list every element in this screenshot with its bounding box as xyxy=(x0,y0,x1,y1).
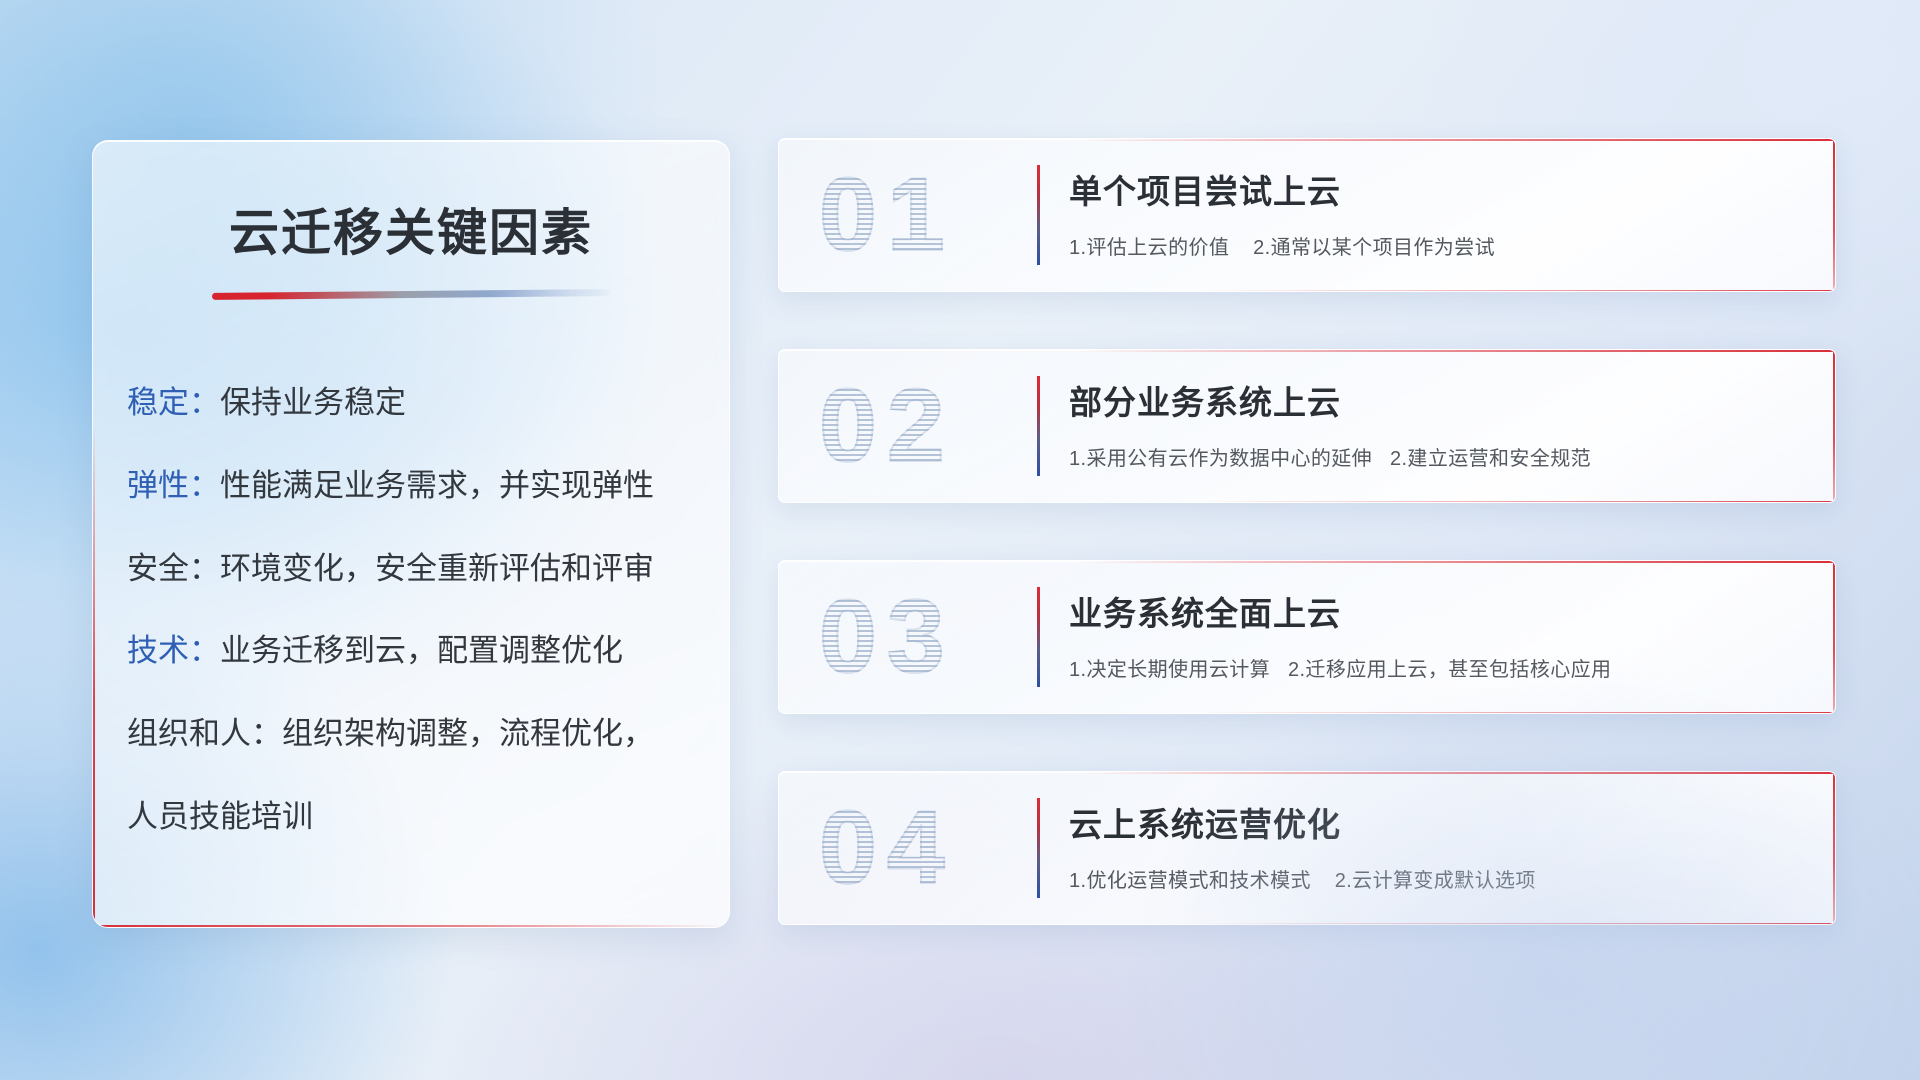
card-body: 云上系统运营优化 1.优化运营模式和技术模式 2.云计算变成默认选项 xyxy=(1069,798,1809,893)
list-item-continuation: 人员技能培训 xyxy=(127,798,695,836)
key-factors-panel: 云迁移关键因素 稳定：保持业务稳定 弹性：性能满足业务需求，并实现弹性 安全：环… xyxy=(92,140,730,928)
card-subtitle: 1.采用公有云作为数据中心的延伸 2.建立运营和安全规范 xyxy=(1069,442,1809,471)
stage-number: 03 xyxy=(819,575,1029,699)
card-top-accent xyxy=(1075,139,1835,141)
factor-value: 业务迁移到云，配置调整优化 xyxy=(220,633,623,668)
factor-value: 性能满足业务需求，并实现弹性 xyxy=(220,468,654,503)
card-title: 部分业务系统上云 xyxy=(1069,376,1809,424)
card-divider-bar xyxy=(1037,165,1040,265)
card-bottom-accent xyxy=(1201,501,1835,502)
card-bottom-accent xyxy=(1201,712,1835,713)
panel-red-bottom-edge xyxy=(93,925,729,927)
card-right-accent xyxy=(1833,772,1835,924)
card-right-accent xyxy=(1833,350,1835,502)
factor-value: 组织架构调整，流程优化， xyxy=(282,716,654,751)
stage-card[interactable]: 03 业务系统全面上云 1.决定长期使用云计算 2.迁移应用上云，甚至包括核心应… xyxy=(778,560,1836,714)
page-title: 云迁移关键因素 xyxy=(93,193,729,265)
card-divider-bar xyxy=(1037,587,1040,687)
card-top-accent xyxy=(1075,772,1835,774)
factor-list: 稳定：保持业务稳定 弹性：性能满足业务需求，并实现弹性 安全：环境变化，安全重新… xyxy=(93,384,729,836)
card-title: 单个项目尝试上云 xyxy=(1069,165,1809,213)
stage-number: 04 xyxy=(819,786,1029,910)
card-subtitle: 1.优化运营模式和技术模式 2.云计算变成默认选项 xyxy=(1069,864,1809,893)
stage-number: 02 xyxy=(819,364,1029,488)
list-item: 稳定：保持业务稳定 xyxy=(127,384,695,422)
list-item: 安全：环境变化，安全重新评估和评审 xyxy=(127,550,695,588)
stage-card[interactable]: 01 单个项目尝试上云 1.评估上云的价值 2.通常以某个项目作为尝试 xyxy=(778,138,1836,292)
list-item: 弹性：性能满足业务需求，并实现弹性 xyxy=(127,467,695,505)
card-body: 业务系统全面上云 1.决定长期使用云计算 2.迁移应用上云，甚至包括核心应用 xyxy=(1069,587,1809,682)
card-divider-bar xyxy=(1037,798,1040,898)
card-bottom-accent xyxy=(1201,290,1835,291)
card-right-accent xyxy=(1833,561,1835,713)
factor-value: 人员技能培训 xyxy=(127,799,313,834)
title-underline-gradient xyxy=(212,289,610,300)
card-title: 云上系统运营优化 xyxy=(1069,798,1809,846)
factor-key: 安全： xyxy=(127,551,220,586)
stage-card-list: 01 单个项目尝试上云 1.评估上云的价值 2.通常以某个项目作为尝试 02 部… xyxy=(778,138,1836,925)
factor-value: 保持业务稳定 xyxy=(220,385,406,420)
factor-key: 技术： xyxy=(127,633,220,668)
stage-card[interactable]: 04 云上系统运营优化 1.优化运营模式和技术模式 2.云计算变成默认选项 xyxy=(778,771,1836,925)
list-item: 技术：业务迁移到云，配置调整优化 xyxy=(127,632,695,670)
list-item: 组织和人：组织架构调整，流程优化， xyxy=(127,715,695,753)
factor-key: 稳定： xyxy=(127,385,220,420)
card-body: 单个项目尝试上云 1.评估上云的价值 2.通常以某个项目作为尝试 xyxy=(1069,165,1809,260)
factor-key: 弹性： xyxy=(127,468,220,503)
stage-card[interactable]: 02 部分业务系统上云 1.采用公有云作为数据中心的延伸 2.建立运营和安全规范 xyxy=(778,349,1836,503)
card-right-accent xyxy=(1833,139,1835,291)
card-divider-bar xyxy=(1037,376,1040,476)
card-subtitle: 1.评估上云的价值 2.通常以某个项目作为尝试 xyxy=(1069,231,1809,260)
panel-red-left-edge xyxy=(93,424,95,927)
card-top-accent xyxy=(1075,561,1835,563)
factor-key: 组织和人： xyxy=(127,716,282,751)
factor-value: 环境变化，安全重新评估和评审 xyxy=(220,551,654,586)
slide-canvas: 云迁移关键因素 稳定：保持业务稳定 弹性：性能满足业务需求，并实现弹性 安全：环… xyxy=(0,0,1920,1080)
card-body: 部分业务系统上云 1.采用公有云作为数据中心的延伸 2.建立运营和安全规范 xyxy=(1069,376,1809,471)
card-subtitle: 1.决定长期使用云计算 2.迁移应用上云，甚至包括核心应用 xyxy=(1069,653,1809,682)
card-bottom-accent xyxy=(1201,923,1835,924)
card-title: 业务系统全面上云 xyxy=(1069,587,1809,635)
stage-number: 01 xyxy=(819,153,1029,277)
card-top-accent xyxy=(1075,350,1835,352)
